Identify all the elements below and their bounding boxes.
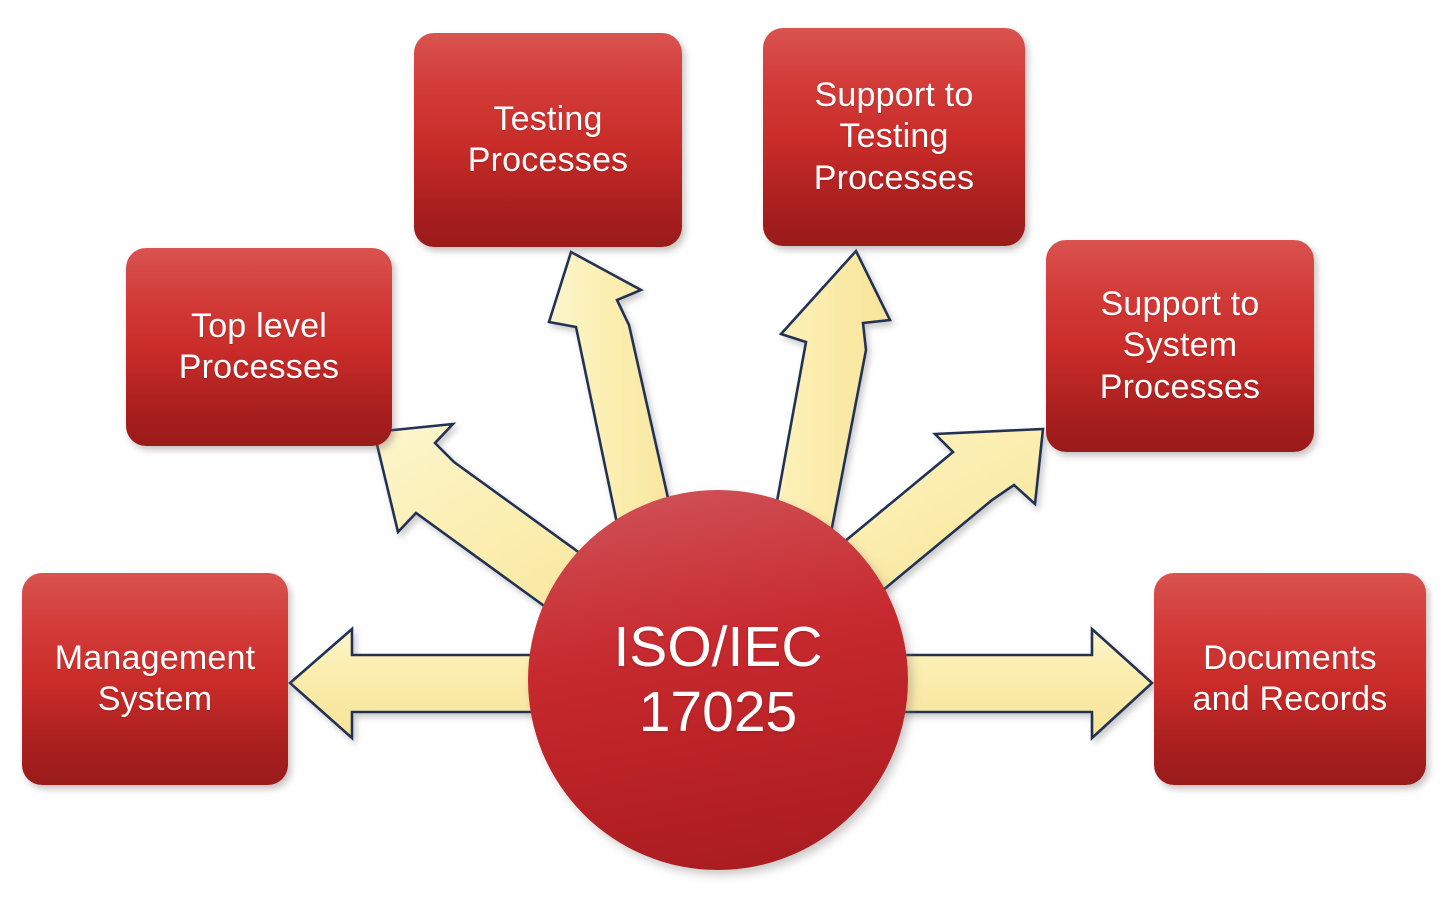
node-top-level-processes[interactable]: Top level Processes	[126, 248, 392, 446]
node-support-to-testing-processes[interactable]: Support to Testing Processes	[763, 28, 1025, 246]
node-testing-processes[interactable]: Testing Processes	[414, 33, 682, 247]
node-support-to-system-processes[interactable]: Support to System Processes	[1046, 240, 1314, 452]
node-label-management-system: Management System	[45, 638, 265, 721]
node-documents-and-records[interactable]: Documents and Records	[1154, 573, 1426, 785]
diagram-canvas: Testing Processes Support to Testing Pro…	[0, 0, 1444, 898]
center-node-label: ISO/IEC 17025	[613, 615, 822, 745]
center-node-iso-iec-17025[interactable]: ISO/IEC 17025	[528, 490, 908, 870]
node-label-support-to-testing-processes: Support to Testing Processes	[804, 75, 985, 199]
node-label-documents-and-records: Documents and Records	[1183, 638, 1398, 721]
node-label-top-level-processes: Top level Processes	[169, 306, 350, 389]
node-management-system[interactable]: Management System	[22, 573, 288, 785]
node-label-support-to-system-processes: Support to System Processes	[1090, 284, 1271, 408]
node-label-testing-processes: Testing Processes	[458, 99, 639, 182]
